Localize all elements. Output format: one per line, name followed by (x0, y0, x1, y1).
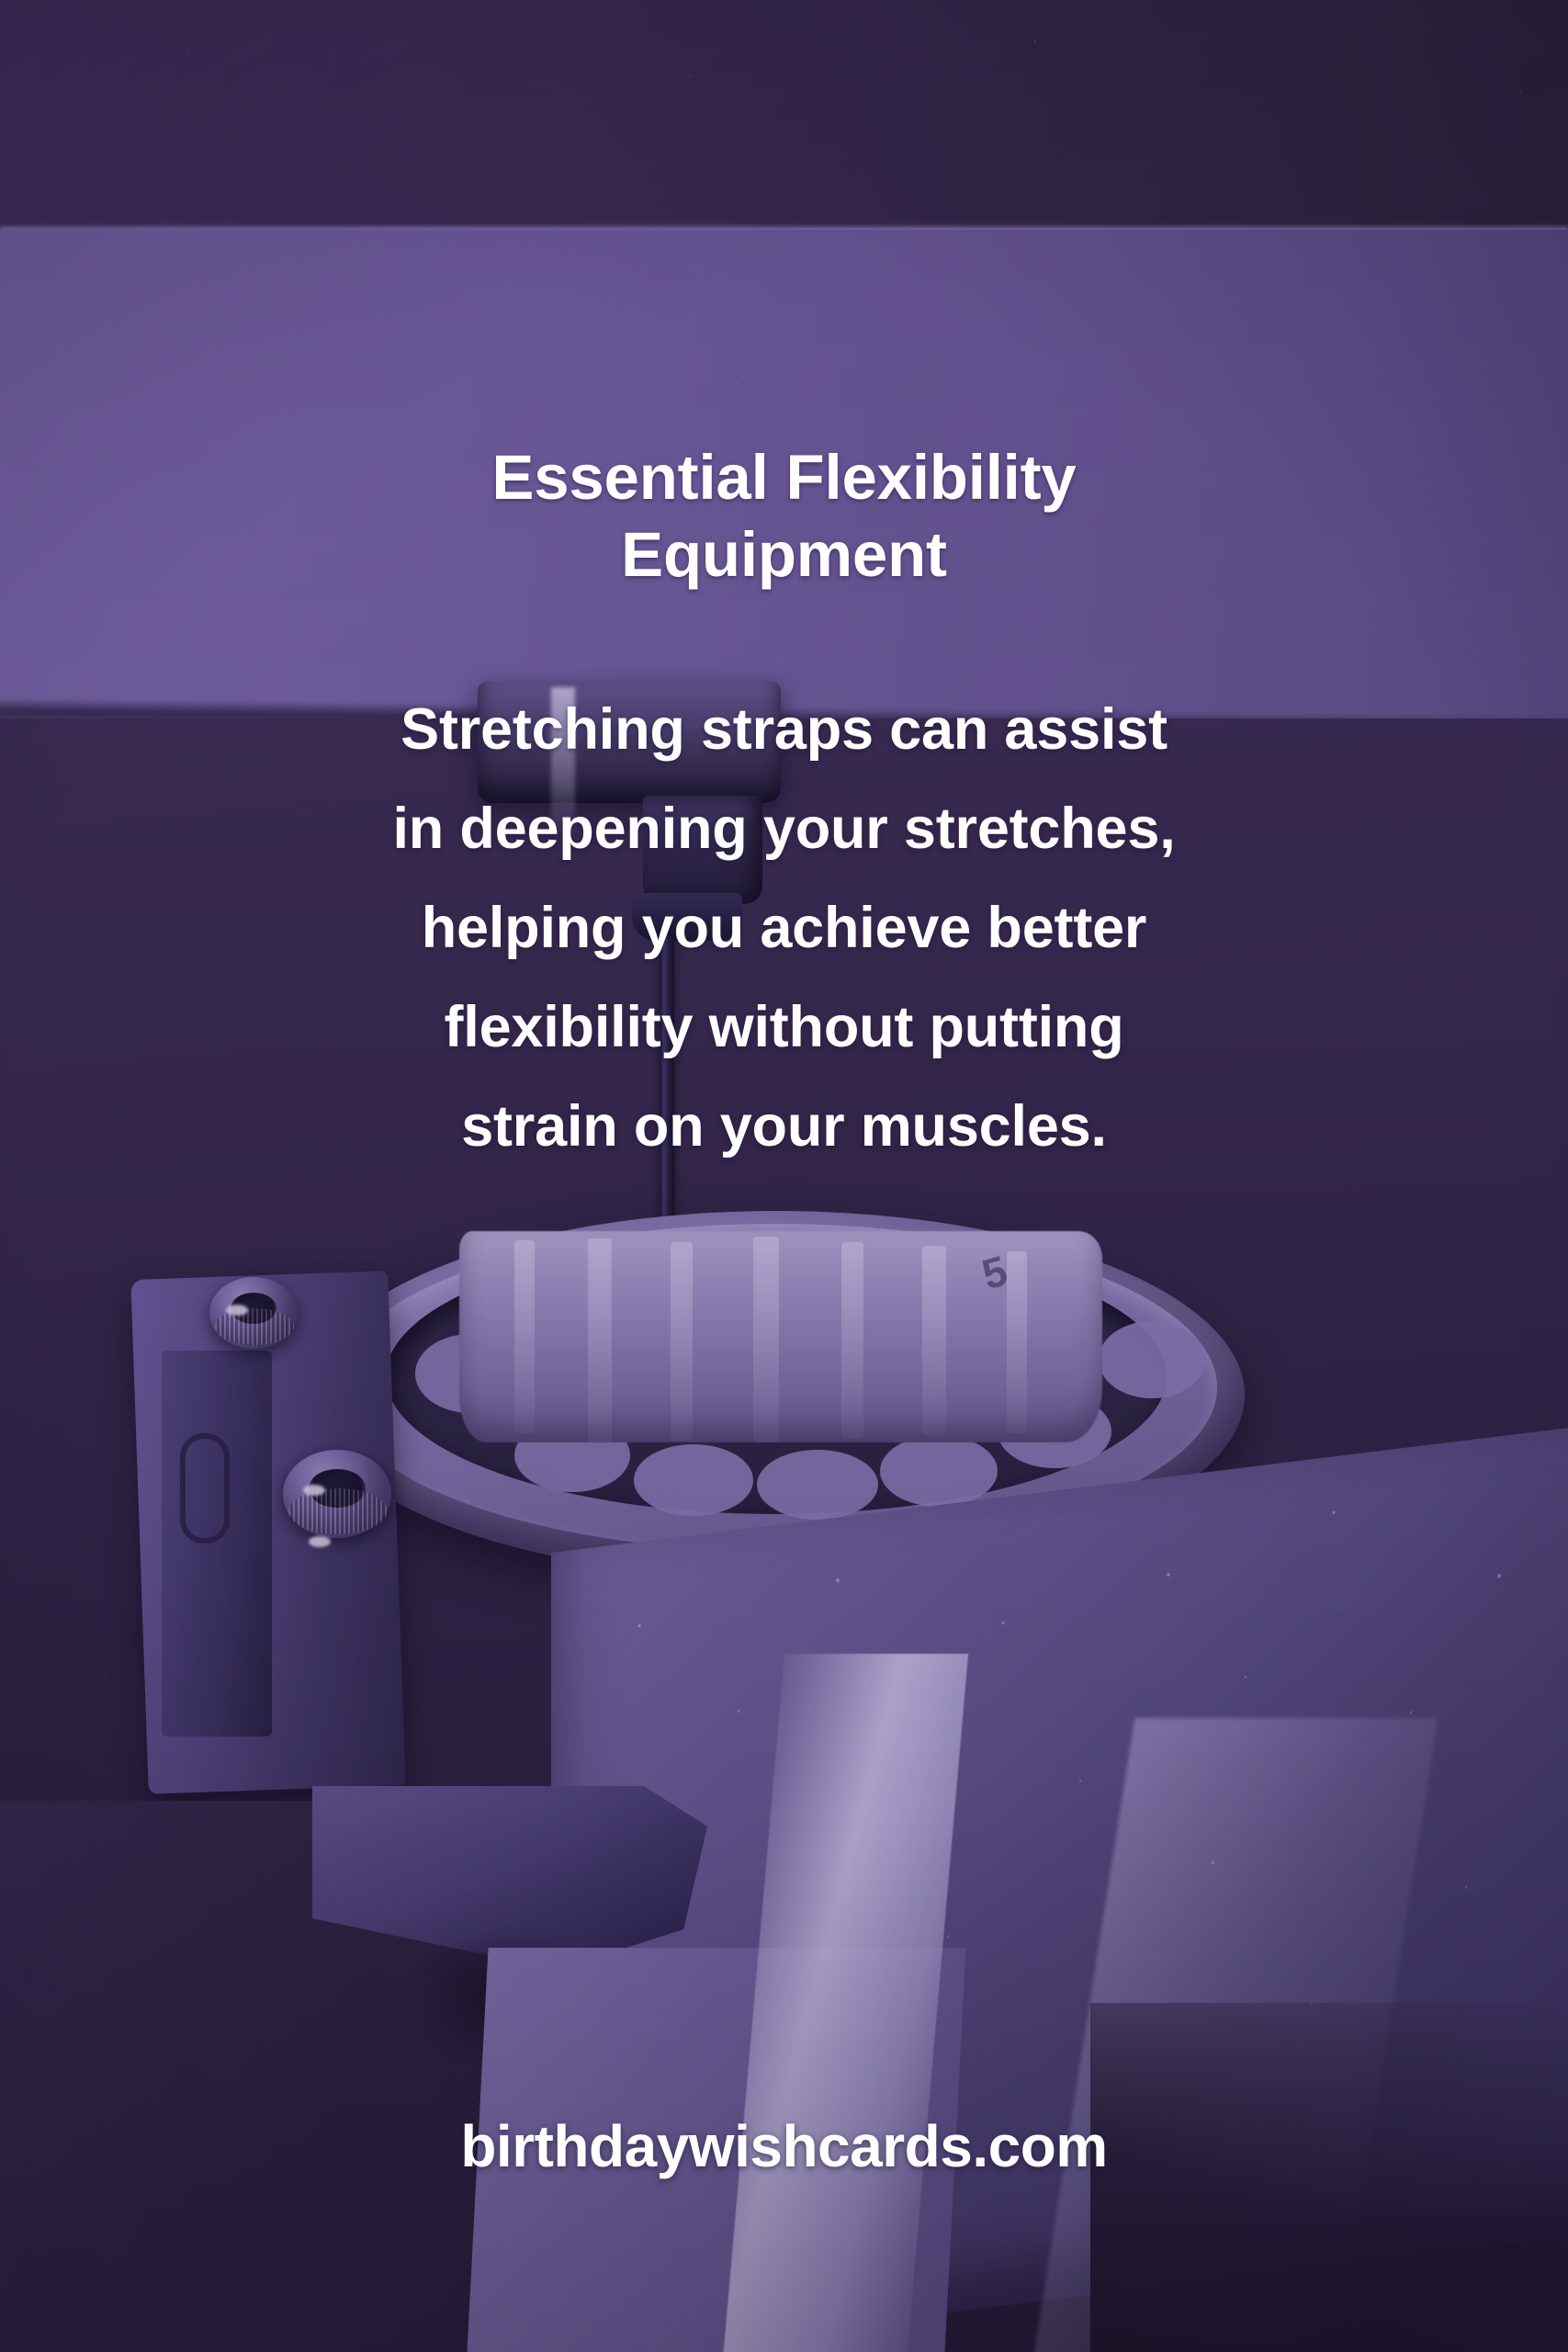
body-line-5: strain on your muscles. (110, 1077, 1458, 1176)
body-line-1: Stretching straps can assist (110, 680, 1458, 779)
footer-watermark: birthdaywishcards.com (0, 2109, 1568, 2183)
text-overlay: Essential Flexibility Equipment Stretchi… (0, 0, 1568, 2352)
pinterest-card: 5 Essential Flexibility Equipment S (0, 0, 1568, 2352)
body-line-4: flexibility without putting (110, 978, 1458, 1077)
card-body: Stretching straps can assist in deepenin… (0, 680, 1568, 1176)
body-line-2: in deepening your stretches, (110, 779, 1458, 878)
site-url-text: birthdaywishcards.com (460, 2109, 1107, 2183)
card-title: Essential Flexibility Equipment (0, 439, 1568, 594)
title-line-1: Essential Flexibility (138, 439, 1430, 516)
body-line-3: helping you achieve better (110, 878, 1458, 978)
title-line-2: Equipment (138, 516, 1430, 594)
